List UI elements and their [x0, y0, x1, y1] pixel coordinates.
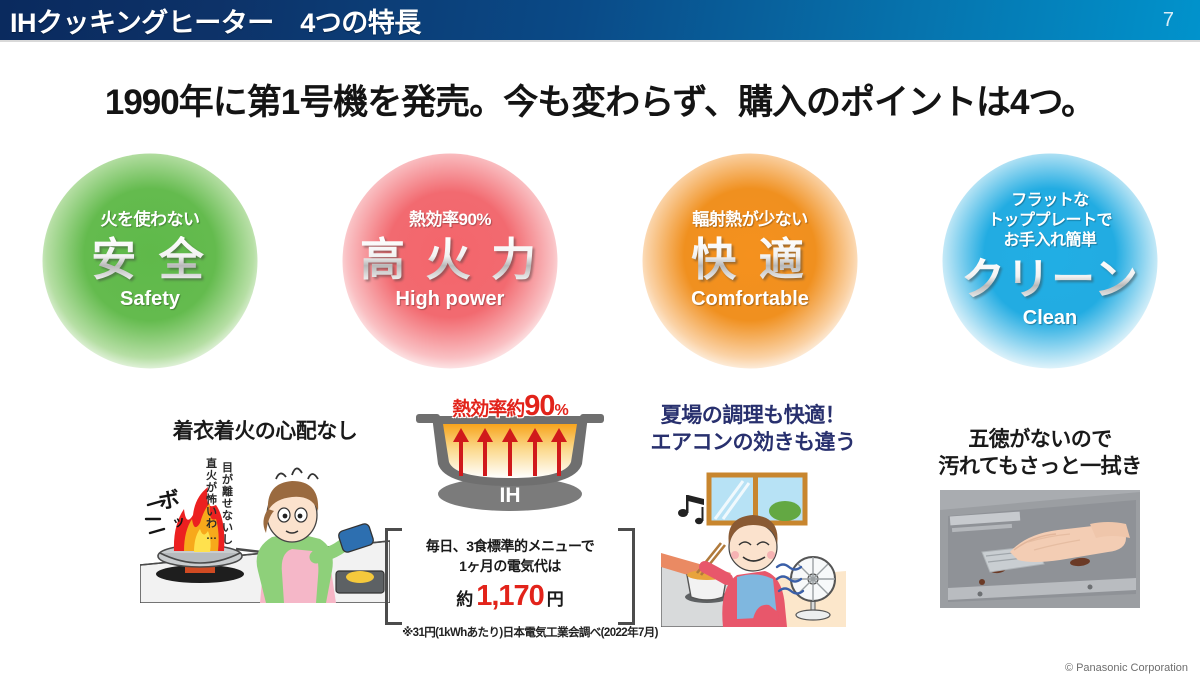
slide-title-bar: IHクッキングヒーター 4つの特長 7 — [0, 0, 1200, 42]
svg-text:…: … — [206, 530, 217, 542]
svg-text:し: し — [222, 533, 233, 546]
column-caption-safety: 着衣着火の心配なし — [120, 418, 410, 445]
cost-amount-row: 約1,170円 — [407, 580, 613, 613]
cost-amount: 1,170 — [476, 580, 544, 612]
badge-subtitle-line3: お手入れ簡単 — [920, 231, 1180, 251]
badge-comfortable: 輻射熱が少ない 快 適 Comfortable — [620, 148, 880, 373]
comfortable-cooking-illustration — [661, 467, 846, 627]
svg-text:な: な — [222, 509, 233, 522]
badge-safety: 火を使わない 安 全 Safety — [20, 148, 280, 373]
ih-base-text: IH — [500, 484, 521, 507]
badge-main-label: クリーン — [920, 257, 1180, 303]
badge-clean: フラットな トッププレートで お手入れ簡単 クリーン Clean — [920, 148, 1180, 373]
cost-prefix: 約 — [456, 590, 473, 609]
badge-high-power: 熱効率90% 高 火 力 High power — [320, 148, 580, 373]
column-caption-comfortable-line2: エアコンの効きも違う — [628, 429, 878, 456]
svg-text:火: 火 — [206, 469, 218, 482]
badge-main-label: 高 火 力 — [320, 236, 580, 283]
badge-subtitle: 輻射熱が少ない — [620, 210, 880, 230]
badge-subtitle-line1: フラットな — [920, 191, 1180, 211]
badge-english-label: Clean — [920, 307, 1180, 330]
column-safety: 着衣着火の心配なし ボ ッ — [120, 418, 410, 603]
badge-subtitle-line2: トッププレートで — [920, 211, 1180, 231]
svg-text:離: 離 — [222, 484, 233, 498]
column-high-power: 熱効率約90% IH — [370, 394, 650, 640]
headline: 1990年に第1号機を発売。今も変わらず、購入のポイントは4つ。 — [0, 74, 1200, 125]
badge-main-label: 安 全 — [20, 236, 280, 283]
badge-english-label: High power — [320, 288, 580, 311]
svg-text:目: 目 — [222, 461, 233, 474]
gas-stove-danger-illustration: ボ ッ 目が離せないし 直火が怖いわ… — [140, 453, 390, 603]
badge-english-label: Safety — [20, 288, 280, 311]
cost-line-1: 毎日、3食標準的メニューで — [407, 536, 613, 556]
column-caption-comfortable-line1: 夏場の調理も快適！ — [628, 402, 878, 429]
cooktop-wiping-photo — [940, 490, 1140, 608]
svg-text:わ: わ — [206, 517, 217, 530]
svg-text:怖: 怖 — [206, 492, 217, 506]
svg-text:が: が — [206, 480, 217, 494]
svg-text:直: 直 — [206, 456, 217, 470]
column-comfortable: 夏場の調理も快適！ エアコンの効きも違う — [628, 402, 878, 627]
ih-efficiency-diagram: 熱効率約90% IH — [410, 394, 610, 512]
svg-text:せ: せ — [222, 497, 233, 510]
detail-columns: 着衣着火の心配なし ボ ッ — [0, 396, 1200, 666]
copyright-notice: © Panasonic Corporation — [1065, 662, 1188, 674]
monthly-cost-box: 毎日、3食標準的メニューで 1ヶ月の電気代は 約1,170円 — [385, 528, 635, 619]
svg-text:が: が — [222, 472, 233, 486]
cost-unit: 円 — [547, 590, 564, 609]
badge-english-label: Comfortable — [620, 288, 880, 311]
page-title: IHクッキングヒーター 4つの特長 — [0, 1, 421, 40]
badge-subtitle: 熱効率90% — [320, 210, 580, 230]
svg-text:い: い — [222, 522, 233, 534]
feature-badge-row: 火を使わない 安 全 Safety 熱効率90% 高 火 力 High powe… — [0, 148, 1200, 378]
column-caption-clean-line1: 五徳がないので — [915, 426, 1165, 453]
comfortable-illustration-svg — [661, 467, 846, 627]
cooktop-photo-svg — [940, 490, 1140, 608]
badge-subtitle: 火を使わない — [20, 210, 280, 230]
page-number: 7 — [1163, 9, 1200, 32]
pot-label-unit: % — [555, 402, 568, 419]
column-caption-clean-line2: 汚れてもさっと一拭き — [915, 453, 1165, 480]
pot-efficiency-label: 熱効率約90% — [410, 390, 610, 423]
badge-main-label: 快 適 — [620, 236, 880, 283]
svg-text:い: い — [206, 506, 217, 518]
pot-label-value: 90 — [524, 390, 554, 422]
pot-label-prefix: 熱効率約 — [452, 399, 524, 420]
cost-line-2: 1ヶ月の電気代は — [407, 556, 613, 576]
gas-stove-illustration-svg: ボ ッ 目が離せないし 直火が怖いわ… — [140, 453, 390, 603]
svg-text:ッ: ッ — [171, 513, 186, 530]
column-clean: 五徳がないので 汚れてもさっと一拭き — [915, 426, 1165, 608]
